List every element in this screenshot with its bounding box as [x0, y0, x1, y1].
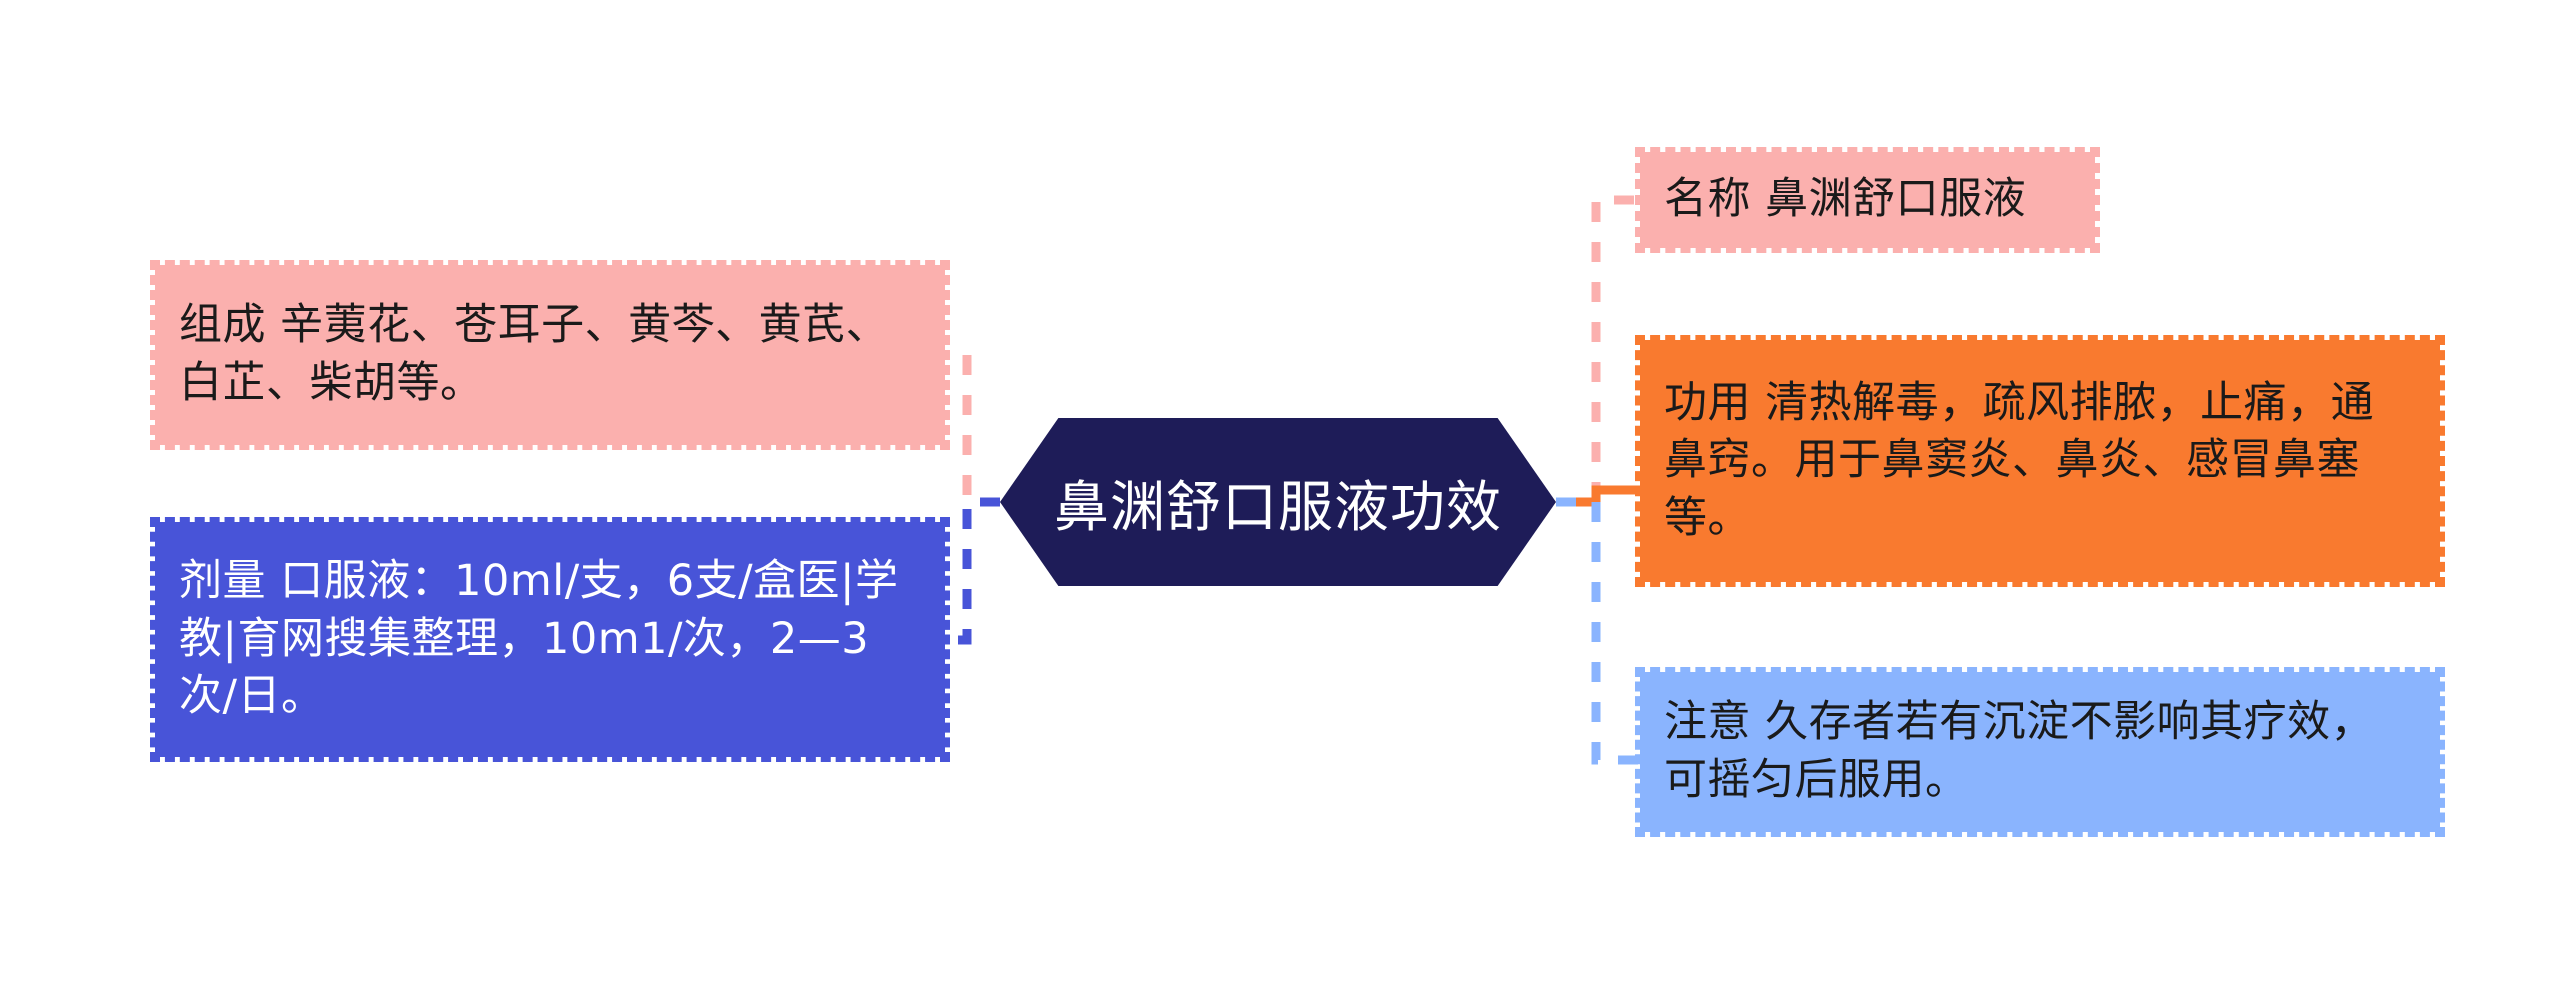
- connector-name: [1556, 200, 1640, 502]
- branch-node-effect[interactable]: 功用 清热解毒，疏风排脓，止痛，通鼻窍。用于鼻窦炎、鼻炎、感冒鼻塞等。: [1640, 340, 2440, 582]
- branch-text-dosage: 剂量 口服液：10ml/支，6支/盒医|学教|育网搜集整理，10m1/次，2—3…: [179, 553, 919, 726]
- branch-text-caution: 注意 久存者若有沉淀不影响其疗效，可摇匀后服用。: [1664, 694, 2414, 809]
- branch-node-composition[interactable]: 组成 辛荑花、苍耳子、黄芩、黄芪、白芷、柴胡等。: [155, 265, 945, 445]
- branch-node-caution[interactable]: 注意 久存者若有沉淀不影响其疗效，可摇匀后服用。: [1640, 672, 2440, 832]
- branch-text-composition: 组成 辛荑花、苍耳子、黄芩、黄芪、白芷、柴胡等。: [179, 297, 919, 412]
- connector-dosage: [945, 502, 1000, 640]
- branch-node-name[interactable]: 名称 鼻渊舒口服液: [1640, 152, 2095, 248]
- branch-text-effect: 功用 清热解毒，疏风排脓，止痛，通鼻窍。用于鼻窦炎、鼻炎、感冒鼻塞等。: [1664, 375, 2414, 548]
- diagram-canvas: 组成 辛荑花、苍耳子、黄芩、黄芪、白芷、柴胡等。 剂量 口服液：10ml/支，6…: [0, 0, 2560, 983]
- hub-node[interactable]: 鼻渊舒口服液功效: [1000, 418, 1556, 586]
- hub-label: 鼻渊舒口服液功效: [1054, 462, 1502, 542]
- connector-caution: [1556, 502, 1640, 760]
- connector-composition: [945, 355, 1000, 502]
- branch-node-dosage[interactable]: 剂量 口服液：10ml/支，6支/盒医|学教|育网搜集整理，10m1/次，2—3…: [155, 522, 945, 757]
- branch-text-name: 名称 鼻渊舒口服液: [1664, 171, 2069, 229]
